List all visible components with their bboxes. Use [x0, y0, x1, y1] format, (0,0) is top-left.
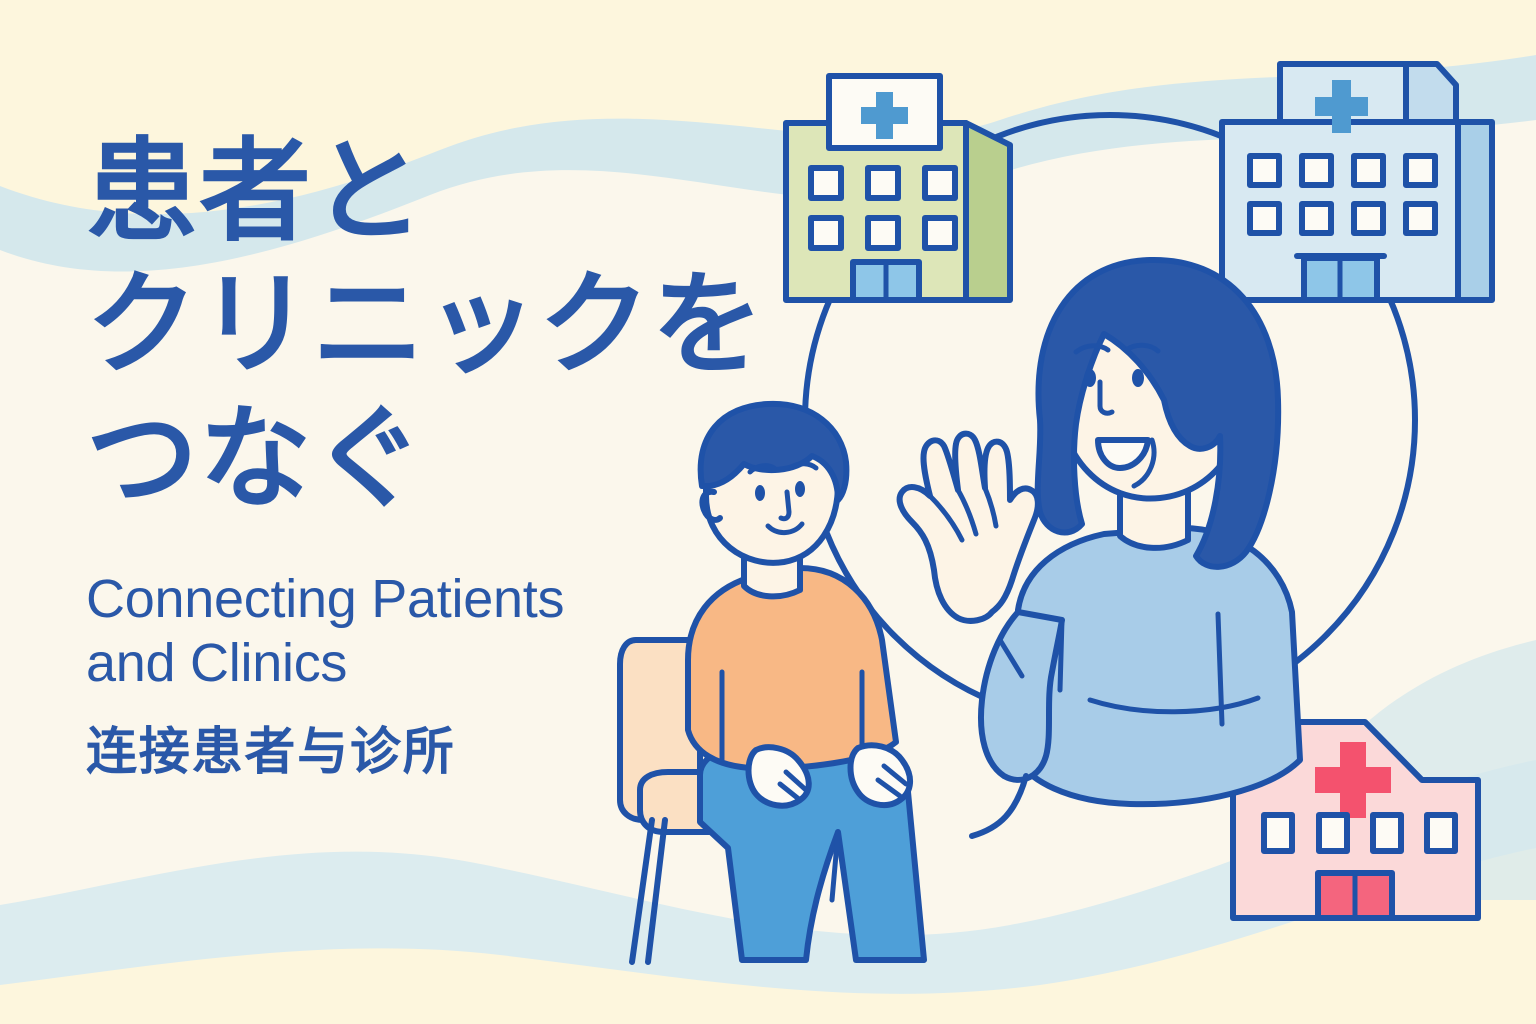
- poster-canvas: .ol { fill:none; stroke:#1f52a8; stroke-…: [0, 0, 1536, 1024]
- building-blue-hospital: [1222, 64, 1492, 300]
- headline: 患者と クリニックを つなぐ: [86, 126, 746, 526]
- text-column: 患者と クリニックを つなぐ Connecting Patients and C…: [86, 126, 746, 781]
- subtitle-chinese: 连接患者与诊所: [86, 725, 746, 781]
- subtitle-en-line-1: Connecting Patients: [86, 568, 746, 632]
- headline-line-1: 患者と: [86, 126, 746, 259]
- waving-hand-icon: [900, 434, 1038, 621]
- subtitle-english: Connecting Patients and Clinics: [86, 568, 746, 695]
- building-green-clinic: [786, 76, 1010, 300]
- headline-line-3: つなぐ: [86, 393, 746, 526]
- person-waving-woman: [900, 260, 1300, 836]
- subtitle-en-line-2: and Clinics: [86, 632, 746, 696]
- headline-line-2: クリニックを: [86, 259, 746, 392]
